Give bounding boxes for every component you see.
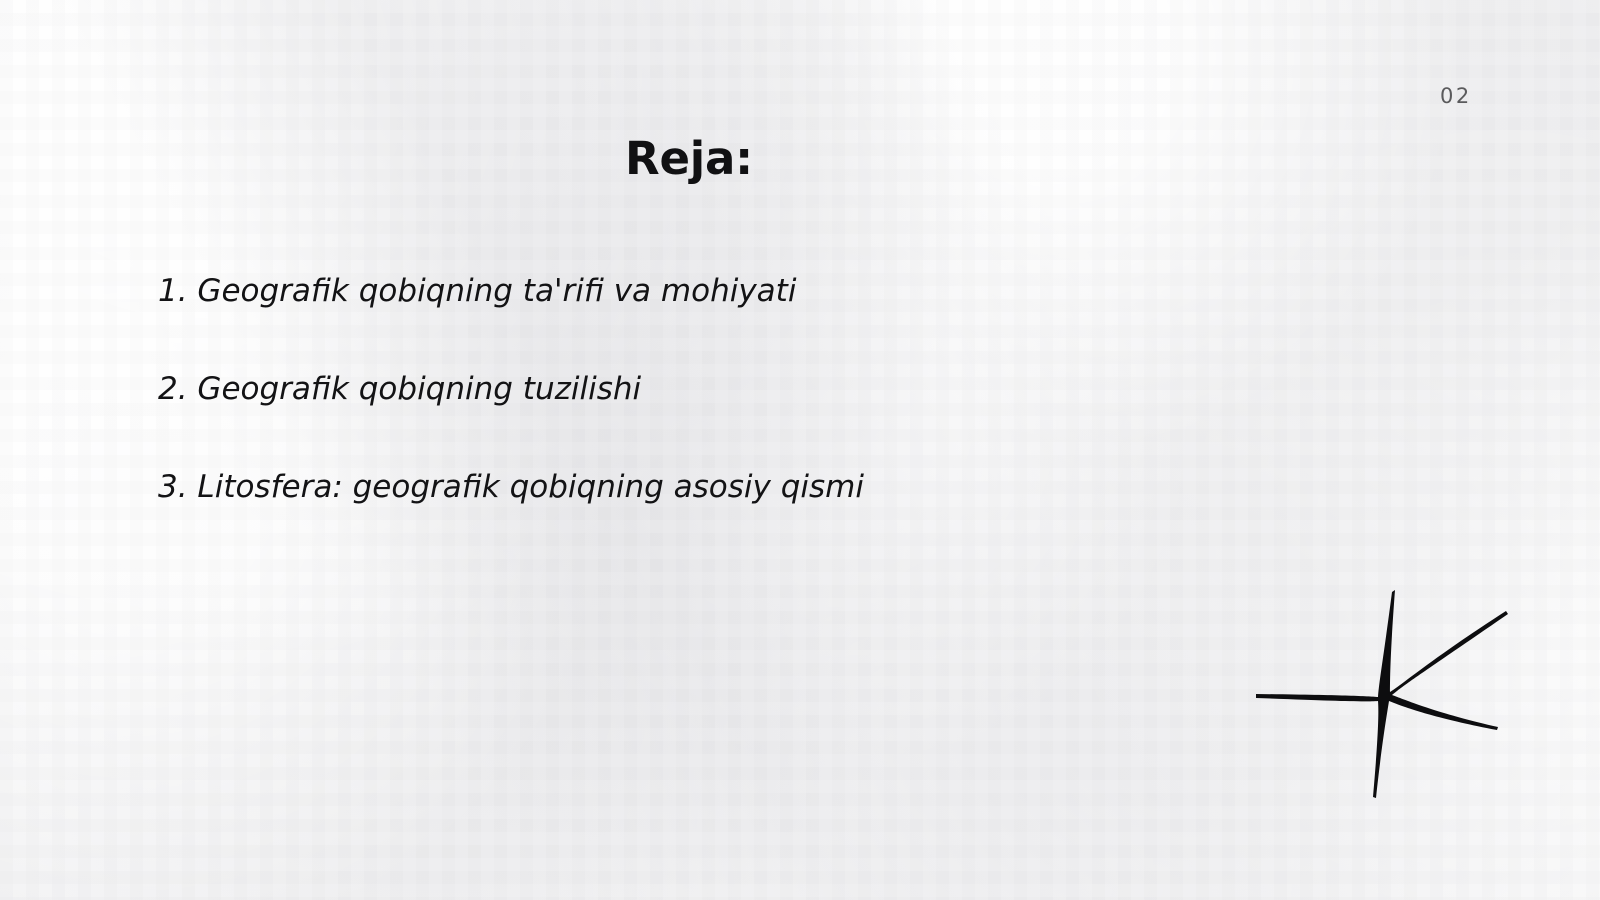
- page-number: 02: [1440, 84, 1472, 108]
- list-item: 3. Litosfera: geografik qobiqning asosiy…: [158, 472, 1258, 570]
- list-item: 2. Geografik qobiqning tuzilishi: [158, 374, 1258, 472]
- sparkle-star-shape: [1256, 590, 1508, 798]
- sparkle-star-icon: [1240, 570, 1530, 820]
- agenda-list: 1. Geografik qobiqning ta'rifi va mohiya…: [158, 276, 1258, 570]
- slide-canvas: 02 Reja: 1. Geografik qobiqning ta'rifi …: [0, 0, 1600, 900]
- page-title: Reja:: [0, 132, 1378, 185]
- list-item: 1. Geografik qobiqning ta'rifi va mohiya…: [158, 276, 1258, 374]
